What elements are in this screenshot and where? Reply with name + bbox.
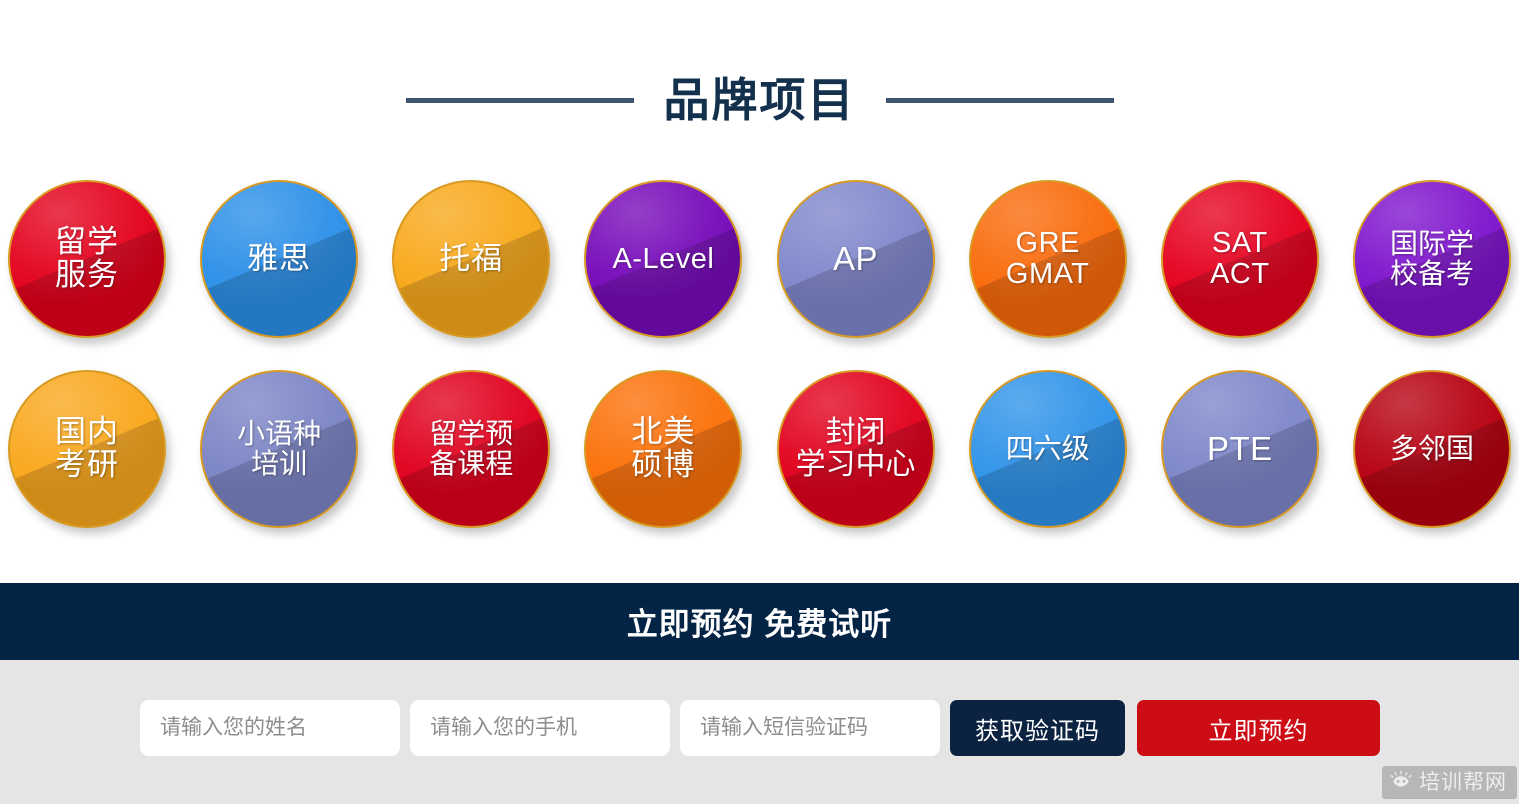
phone-input[interactable] (410, 700, 670, 756)
program-bubble[interactable]: 国内 考研 (8, 370, 166, 528)
program-bubble[interactable]: 北美 硕博 (584, 370, 742, 528)
program-bubble-label: 封闭 学习中心 (779, 417, 933, 481)
program-bubble-label: 国际学 校备考 (1390, 229, 1474, 288)
program-bubble[interactable]: AP (777, 180, 935, 338)
cta-banner-text: 立即预约 免费试听 (627, 599, 893, 644)
get-sms-code-button[interactable]: 获取验证码 (950, 700, 1125, 756)
title-rule-right (886, 98, 1114, 103)
program-bubble[interactable]: 小语种 培训 (200, 370, 358, 528)
page-title: 品牌项目 (664, 77, 856, 123)
watermark-text: 培训帮网 (1419, 772, 1507, 793)
program-bubble-label: 北美 硕博 (631, 416, 695, 482)
name-input[interactable] (140, 700, 400, 756)
program-bubble[interactable]: GRE GMAT (969, 180, 1127, 338)
program-bubble-label: 四六级 (1006, 434, 1090, 464)
program-bubble-label: 国内 考研 (55, 416, 119, 482)
booking-form-section: 获取验证码 立即预约 (0, 660, 1519, 804)
program-grid: 留学 服务雅思托福A-LevelAPGRE GMATSAT ACT国际学 校备考… (0, 180, 1519, 560)
program-bubble[interactable]: 留学预 备课程 (392, 370, 550, 528)
program-bubble-label: A-Level (613, 244, 715, 275)
title-rule-left (406, 98, 634, 103)
program-bubble[interactable]: 多邻国 (1353, 370, 1511, 528)
site-watermark: 培训帮网 (1382, 766, 1517, 799)
program-bubble[interactable]: 四六级 (969, 370, 1127, 528)
program-bubble-label: 托福 (439, 243, 503, 276)
program-bubble[interactable]: SAT ACT (1161, 180, 1319, 338)
program-bubble[interactable]: 留学 服务 (8, 180, 166, 338)
program-bubble-label: 留学预 备课程 (429, 419, 513, 478)
program-bubble-label: SAT ACT (1210, 228, 1270, 289)
program-bubble[interactable]: PTE (1161, 370, 1319, 528)
program-bubble-label: GRE GMAT (1006, 228, 1090, 289)
program-row-2: 国内 考研小语种 培训留学预 备课程北美 硕博封闭 学习中心四六级PTE多邻国 (0, 370, 1519, 560)
program-bubble[interactable]: 雅思 (200, 180, 358, 338)
program-bubble-label: PTE (1207, 432, 1273, 467)
booking-form: 获取验证码 立即预约 (140, 700, 1380, 756)
program-bubble-label: 多邻国 (1390, 434, 1474, 464)
submit-booking-button[interactable]: 立即预约 (1137, 700, 1380, 756)
program-bubble-label: 雅思 (247, 243, 311, 276)
page-header: 品牌项目 (0, 62, 1519, 138)
cta-banner: 立即预约 免费试听 (0, 583, 1519, 660)
program-row-1: 留学 服务雅思托福A-LevelAPGRE GMATSAT ACT国际学 校备考 (0, 180, 1519, 370)
program-bubble-label: 小语种 培训 (237, 419, 321, 478)
sms-code-input[interactable] (680, 700, 940, 756)
program-bubble[interactable]: 国际学 校备考 (1353, 180, 1511, 338)
program-bubble[interactable]: A-Level (584, 180, 742, 338)
program-bubble-label: AP (833, 242, 878, 277)
program-bubble[interactable]: 托福 (392, 180, 550, 338)
program-bubble[interactable]: 封闭 学习中心 (777, 370, 935, 528)
face-sun-icon (1390, 770, 1412, 795)
program-bubble-label: 留学 服务 (55, 226, 119, 292)
